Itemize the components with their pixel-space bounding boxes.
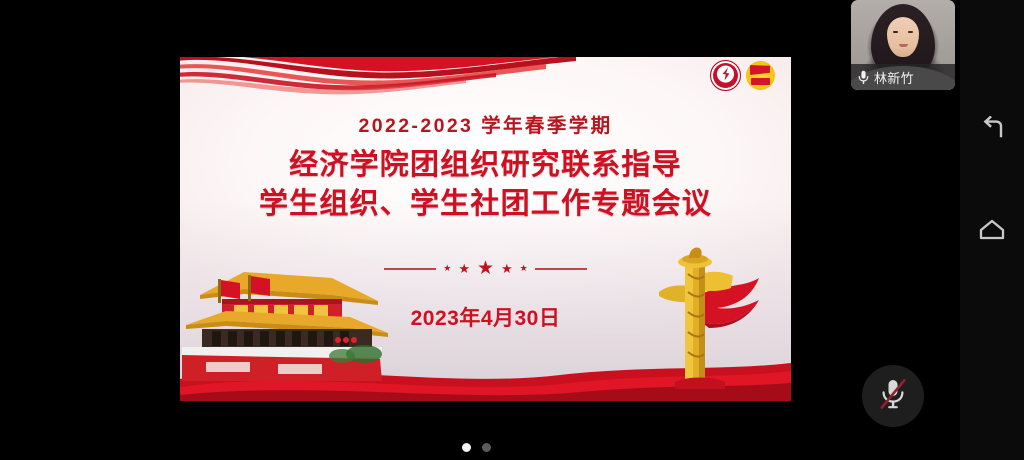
communist-youth-league-logo bbox=[746, 61, 775, 90]
slide-heading-block: 2022-2023 学年春季学期 经济学院团组织研究联系指导 学生组织、学生社团… bbox=[180, 109, 791, 225]
microphone-icon bbox=[858, 70, 869, 85]
slide-logos bbox=[710, 60, 775, 91]
home-icon bbox=[978, 217, 1006, 241]
university-seal-logo bbox=[710, 60, 741, 91]
divider-line-right bbox=[535, 268, 587, 270]
slide-title-line-2: 学生组织、学生社团工作专题会议 bbox=[180, 185, 791, 224]
participant-video-tile[interactable]: 林新竹 bbox=[851, 0, 955, 90]
star-icon: ★ bbox=[520, 264, 528, 273]
nav-recents-button[interactable] bbox=[969, 310, 1015, 356]
phone-screen: 2022-2023 学年春季学期 经济学院团组织研究联系指导 学生组织、学生社团… bbox=[0, 0, 1024, 460]
slide-title-line-1: 经济学院团组织研究联系指导 bbox=[180, 146, 791, 185]
pagination-dot-active[interactable] bbox=[462, 443, 471, 452]
android-navigation-bar bbox=[960, 0, 1024, 460]
star-icon: ★ bbox=[477, 259, 494, 278]
pagination-dot-inactive[interactable] bbox=[482, 443, 491, 452]
slide-subtitle: 2022-2023 学年春季学期 bbox=[180, 109, 791, 138]
slide-pagination-dots[interactable] bbox=[462, 443, 491, 452]
divider-line-left bbox=[384, 268, 436, 270]
five-star-divider: ★ ★ ★ ★ ★ bbox=[180, 259, 791, 278]
star-icon: ★ bbox=[458, 262, 470, 275]
shared-slide-viewport[interactable]: 2022-2023 学年春季学期 经济学院团组织研究联系指导 学生组织、学生社团… bbox=[180, 57, 791, 401]
star-icon: ★ bbox=[501, 262, 513, 275]
nav-home-button[interactable] bbox=[969, 206, 1015, 252]
slide-date: 2023年4月30日 bbox=[180, 302, 791, 332]
mute-toggle-button[interactable] bbox=[862, 365, 924, 427]
star-icon: ★ bbox=[443, 264, 451, 273]
nav-back-button[interactable] bbox=[969, 105, 1015, 151]
back-icon bbox=[979, 116, 1005, 140]
participant-name-label: 林新竹 bbox=[874, 68, 914, 87]
participant-name-bar: 林新竹 bbox=[851, 64, 955, 90]
microphone-muted-icon bbox=[878, 377, 908, 416]
